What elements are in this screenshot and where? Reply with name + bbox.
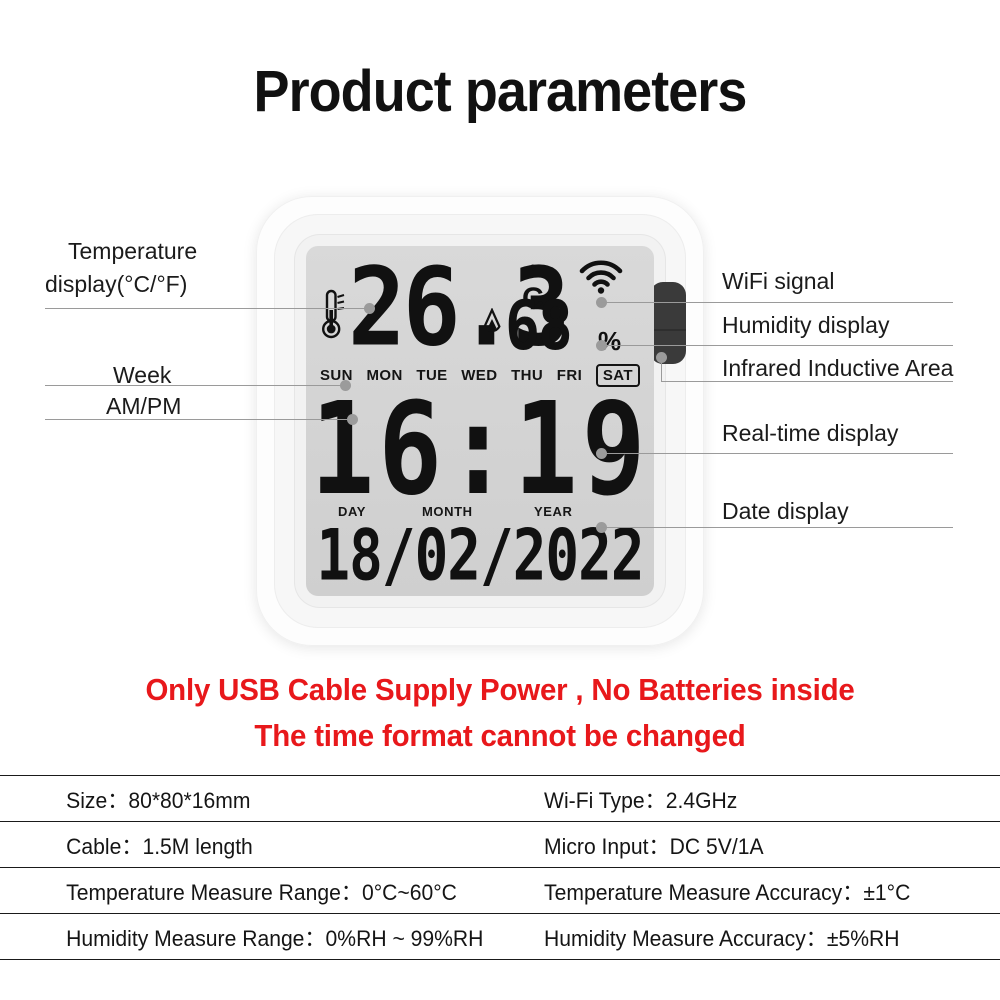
leader-dot-week bbox=[340, 380, 351, 391]
leader-line-realtime bbox=[601, 453, 953, 454]
table-row: Temperature Measure Range：0°C~60°C Tempe… bbox=[0, 867, 1000, 913]
leader-line-date bbox=[601, 527, 953, 528]
specifications-table: Size：80*80*16mm Wi-Fi Type：2.4GHz Cable：… bbox=[0, 775, 1000, 960]
callout-realtime-display: Real-time display bbox=[722, 420, 898, 447]
droplet-icon bbox=[482, 308, 502, 340]
leader-line-temperature bbox=[45, 308, 375, 309]
spec-micro-input: Micro Input：DC 5V/1A bbox=[533, 829, 991, 861]
callout-temperature-line1: Temperature bbox=[68, 238, 197, 265]
table-row: Size：80*80*16mm Wi-Fi Type：2.4GHz bbox=[0, 775, 1000, 821]
page-title: Product parameters bbox=[35, 58, 965, 125]
spec-cable: Cable：1.5M length bbox=[10, 829, 512, 861]
leader-line-ampm bbox=[45, 419, 355, 420]
product-parameters-page: Product parameters bbox=[0, 0, 1000, 1000]
product-hero: 26.3 ° C 68 % bbox=[0, 160, 1000, 660]
leader-line-wifi bbox=[601, 302, 953, 303]
spec-size: Size：80*80*16mm bbox=[10, 783, 512, 815]
spec-temperature-accuracy: Temperature Measure Accuracy：±1°C bbox=[533, 875, 991, 907]
callout-wifi-signal: WiFi signal bbox=[722, 268, 834, 295]
callout-humidity-display: Humidity display bbox=[722, 312, 889, 339]
spec-wifi-type: Wi-Fi Type：2.4GHz bbox=[533, 783, 991, 815]
callout-temperature-line2: display(°C/°F) bbox=[45, 271, 187, 298]
callout-date-display: Date display bbox=[722, 498, 849, 525]
spec-humidity-range: Humidity Measure Range：0%RH ~ 99%RH bbox=[10, 921, 512, 953]
leader-elbow-infrared bbox=[661, 357, 662, 381]
leader-dot-ampm bbox=[347, 414, 358, 425]
leader-dot-temperature bbox=[364, 303, 375, 314]
infrared-sensor-split bbox=[650, 329, 686, 331]
wifi-signal-icon bbox=[578, 258, 624, 294]
infrared-sensor-window bbox=[650, 282, 686, 364]
table-row: Humidity Measure Range：0%RH ~ 99%RH Humi… bbox=[0, 913, 1000, 960]
leader-line-humidity bbox=[601, 345, 953, 346]
spec-humidity-accuracy: Humidity Measure Accuracy：±5%RH bbox=[533, 921, 991, 953]
callout-infrared-area: Infrared Inductive Area bbox=[722, 355, 953, 382]
spec-temperature-range: Temperature Measure Range：0°C~60°C bbox=[10, 875, 512, 907]
thermometer-icon bbox=[320, 288, 346, 342]
humidity-value: 68 bbox=[505, 292, 571, 359]
leader-line-week bbox=[45, 385, 348, 386]
notice-line-1: Only USB Cable Supply Power , No Batteri… bbox=[25, 672, 975, 708]
table-row: Cable：1.5M length Micro Input：DC 5V/1A bbox=[0, 821, 1000, 867]
notice-line-2: The time format cannot be changed bbox=[25, 718, 975, 754]
callout-ampm: AM/PM bbox=[106, 393, 181, 420]
